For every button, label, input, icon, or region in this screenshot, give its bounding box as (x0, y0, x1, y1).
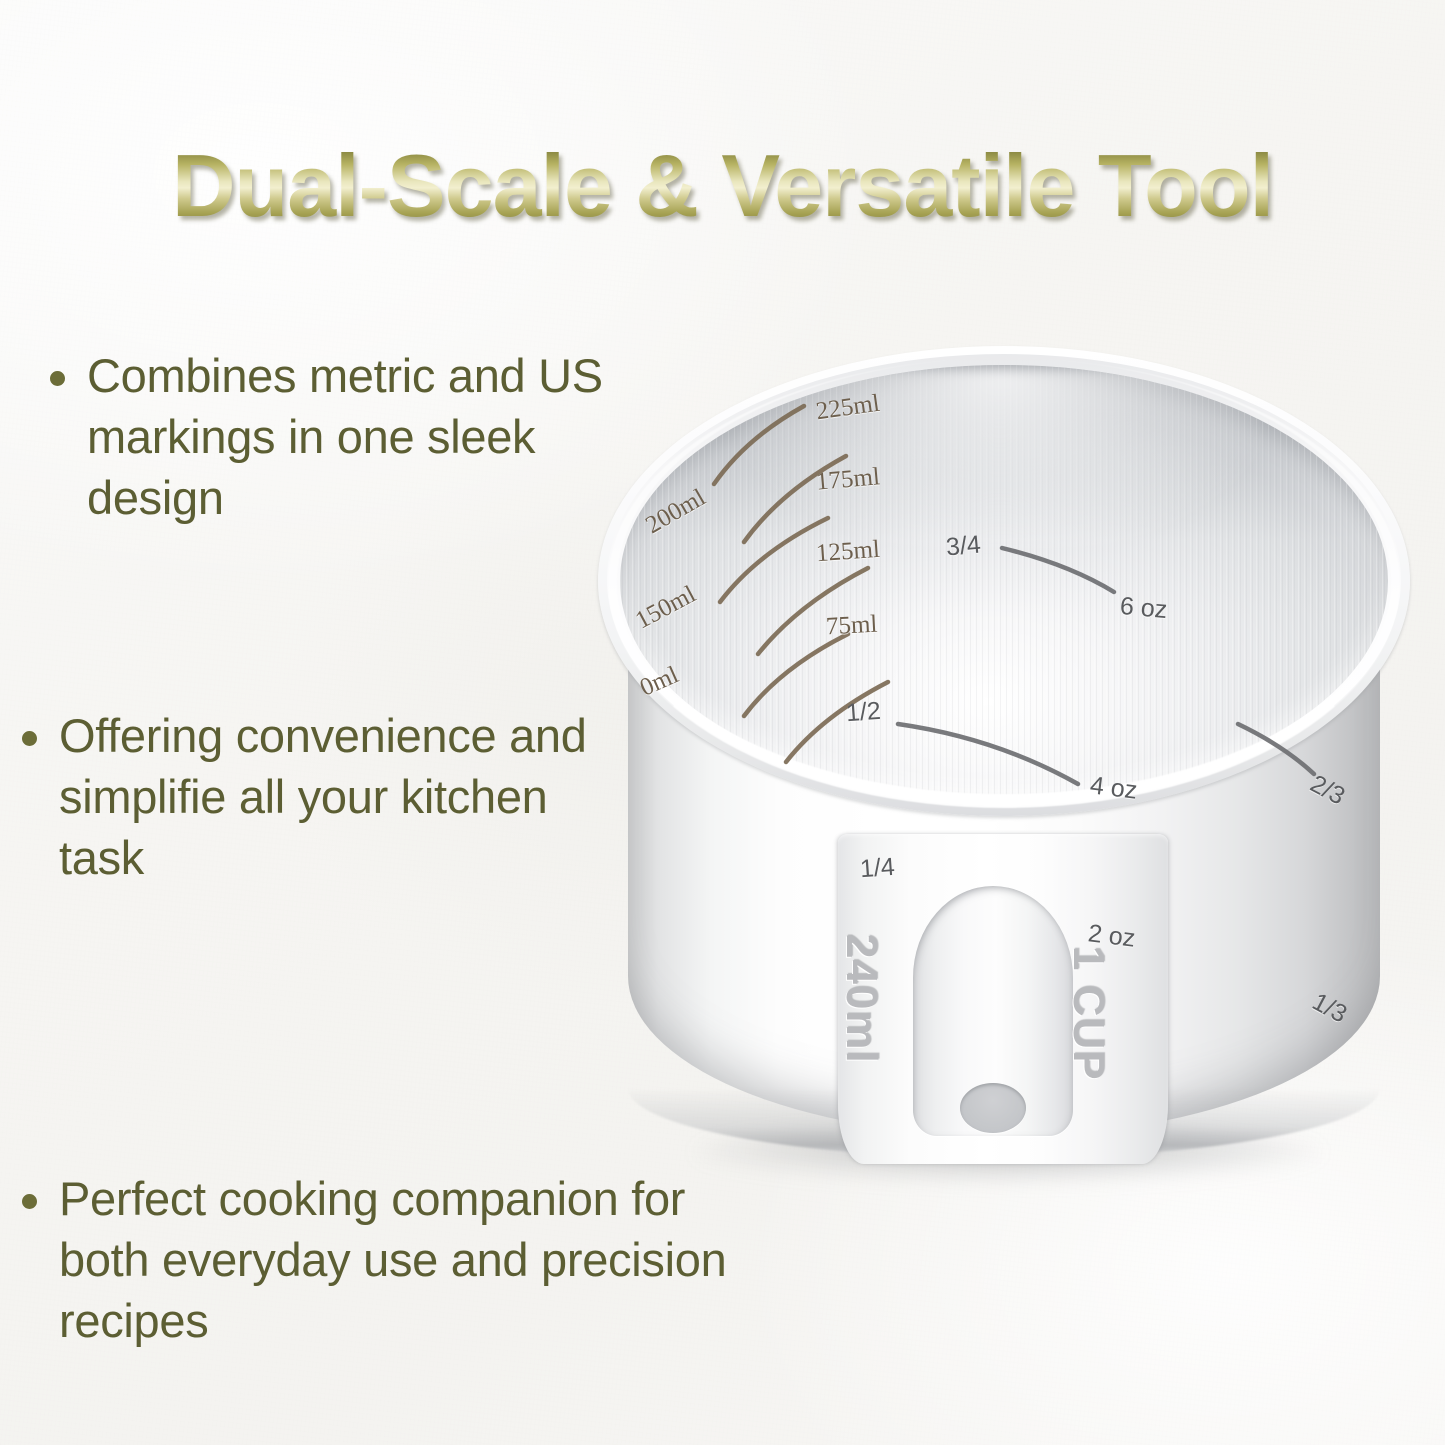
feature-bullet-2: Offering convenience and simplifie all y… (22, 705, 599, 888)
feature-bullet-3: Perfect cooking companion for both every… (22, 1168, 739, 1351)
feature-bullet-2-text: Offering convenience and simplifie all y… (59, 705, 599, 888)
bullet-dot-icon (22, 731, 37, 746)
measuring-cup-product-image: 240ml 1 CUP (598, 346, 1410, 1191)
capacity-metric-emboss: 240ml (836, 934, 886, 1064)
cup-handle-hole (960, 1083, 1026, 1133)
interior-specular-highlight (740, 369, 1260, 549)
page-title: Dual-Scale & Versatile Tool (0, 141, 1445, 231)
feature-bullet-1-text: Combines metric and US markings in one s… (87, 345, 627, 528)
infographic-canvas: Dual-Scale & Versatile Tool Combines met… (0, 0, 1445, 1445)
bullet-dot-icon (22, 1194, 37, 1209)
bullet-dot-icon (50, 371, 65, 386)
cup-rim-outer (598, 346, 1410, 816)
capacity-us-emboss: 1 CUP (1063, 946, 1113, 1081)
feature-bullet-1: Combines metric and US markings in one s… (50, 345, 627, 528)
feature-bullet-3-text: Perfect cooking companion for both every… (59, 1168, 739, 1351)
cup-interior-bowl (620, 365, 1388, 797)
